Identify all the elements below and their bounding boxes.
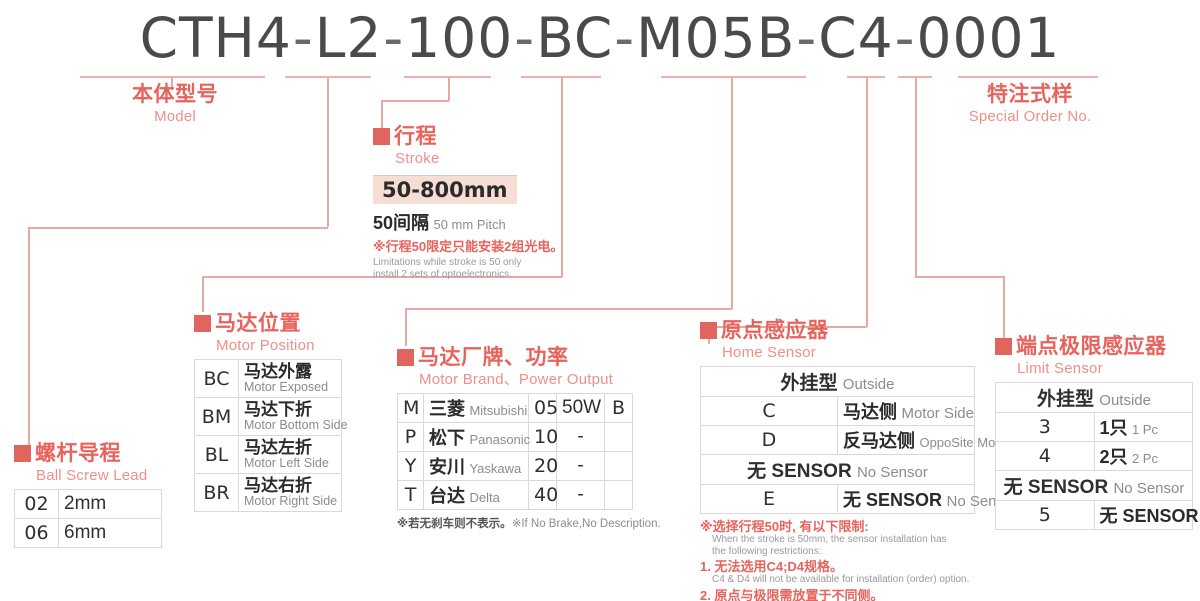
motorbrand-power-0: 50W: [557, 394, 605, 423]
table-header-row: 无 SENSOR No Sensor: [701, 455, 975, 485]
lead-value-1: 6mm: [59, 519, 162, 548]
homesensor-band-nosensor-cn: 无 SENSOR: [747, 461, 852, 482]
motorbrand-title-cn: 马达厂牌、功率: [397, 347, 661, 369]
table-motor-position: BC 马达外露 Motor Exposed BM 马达下折 Motor Bott…: [194, 359, 342, 512]
motorbrand-power-3: -: [557, 481, 605, 510]
homesensor-band-outside-en: Outside: [843, 376, 895, 393]
special-order-title-en: Special Order No.: [950, 107, 1110, 126]
motorbrand-brake-0: B: [605, 394, 633, 423]
motorpos-cn-1: 马达下折: [244, 401, 336, 418]
special-order-title-cn: 特注式样: [950, 84, 1110, 106]
homesensor-note-item1-en: C4 & D4 will not be available for instal…: [700, 574, 975, 586]
stroke-title-cn: 行程: [373, 126, 563, 148]
code-segment-special-order: 0001: [916, 6, 1060, 70]
motorbrand-brake-1: [605, 423, 633, 452]
motorpos-title-en: Motor Position: [194, 336, 342, 355]
limitsensor-en-0: 1 Pc: [1132, 422, 1158, 437]
model-title-cn: 本体型号: [80, 84, 270, 106]
limitsensor-cn-1: 2只: [1100, 447, 1128, 467]
code-segment-stroke: 100: [405, 6, 513, 70]
connector-stroke-v2: [381, 100, 383, 128]
code-segment-home-sensor: C4: [818, 6, 893, 70]
homesensor-note-head-en-1: When the stroke is 50mm, the sensor inst…: [700, 534, 975, 546]
lead-value-0: 2mm: [59, 490, 162, 519]
connector-motorbrand-v2: [405, 308, 407, 346]
motorpos-code-1: BM: [195, 398, 239, 436]
homesensor-code-1: D: [701, 426, 838, 455]
table-row[interactable]: 02 2mm: [15, 490, 162, 519]
limitsensor-band-outside-en: Outside: [1099, 392, 1151, 409]
stroke-note-cn: ※行程50限定只能安装2组光电。: [373, 239, 563, 254]
motorbrand-power-1: -: [557, 423, 605, 452]
limitsensor-value-1: 2只 2 Pc: [1094, 442, 1193, 471]
code-dash: -: [382, 6, 405, 70]
motorpos-value-0: 马达外露 Motor Exposed: [239, 360, 342, 398]
motorpos-code-0: BC: [195, 360, 239, 398]
bullet-square-icon: [995, 338, 1012, 355]
motorbrand-powercode-1: 10: [529, 423, 557, 452]
table-header-row: 外挂型 Outside: [996, 383, 1193, 413]
underline-model: [80, 76, 265, 78]
lead-code-0: 02: [15, 490, 59, 519]
motorpos-cn-2: 马达左折: [244, 439, 336, 456]
connector-lead-h: [28, 227, 328, 229]
motorpos-value-2: 马达左折 Motor Left Side: [239, 436, 342, 474]
connector-homesensor-v1: [866, 77, 868, 327]
motorpos-code-3: BR: [195, 474, 239, 512]
motorbrand-powercode-2: 20: [529, 452, 557, 481]
stroke-pitch: 50间隔 50 mm Pitch: [373, 209, 563, 235]
motorbrand-cn-2: 安川: [429, 457, 465, 477]
homesensor-title-cn-text: 原点感应器: [721, 319, 829, 342]
homesensor-code-2: E: [701, 485, 838, 514]
motorbrand-note: ※若无刹车则不表示。※If No Brake,No Description.: [397, 514, 661, 532]
limitsensor-en-1: 2 Pc: [1132, 451, 1158, 466]
motorbrand-title-cn-text: 马达厂牌、功率: [418, 346, 569, 369]
motorpos-en-1: Motor Bottom Side: [244, 418, 336, 432]
limitsensor-code-0: 3: [996, 413, 1095, 442]
table-header-row: 外挂型 Outside: [701, 367, 975, 397]
underline-special-order: [958, 76, 1098, 78]
homesensor-band-outside-cn: 外挂型: [781, 373, 838, 394]
product-code: CTH4-L2-100-BC-M05B-C4-0001: [0, 6, 1200, 70]
motorbrand-en-3: Delta: [469, 490, 499, 505]
motorbrand-code-0: M: [398, 394, 424, 423]
code-dash: -: [894, 6, 917, 70]
homesensor-en-0: Motor Side: [901, 405, 974, 422]
homesensor-band-outside: 外挂型 Outside: [701, 367, 975, 397]
motorpos-value-1: 马达下折 Motor Bottom Side: [239, 398, 342, 436]
motorbrand-code-2: Y: [398, 452, 424, 481]
bullet-square-icon: [397, 349, 414, 366]
motorbrand-powercode-0: 05: [529, 394, 557, 423]
motorpos-en-2: Motor Left Side: [244, 456, 336, 470]
motorbrand-brand-1: 松下 Panasonic: [424, 423, 529, 452]
motorbrand-powercode-3: 40: [529, 481, 557, 510]
motorbrand-brand-2: 安川 Yaskawa: [424, 452, 529, 481]
motorbrand-brand-3: 台达 Delta: [424, 481, 529, 510]
homesensor-code-0: C: [701, 397, 838, 426]
table-row[interactable]: BL 马达左折 Motor Left Side: [195, 436, 342, 474]
motorbrand-cn-1: 松下: [429, 428, 465, 448]
table-limit-sensor: 外挂型 Outside 3 1只 1 Pc 4 2只 2 Pc: [995, 382, 1193, 530]
table-row[interactable]: 4 2只 2 Pc: [996, 442, 1193, 471]
homesensor-value-2: 无 SENSOR No Sensor: [838, 485, 975, 514]
underline-motor-brand: [661, 76, 806, 78]
limitsensor-code-2: 5: [996, 501, 1095, 530]
motorpos-en-3: Motor Right Side: [244, 494, 336, 508]
homesensor-title-en: Home Sensor: [700, 343, 975, 362]
limitsensor-value-2: 无 SENSOR No Sensor: [1094, 501, 1193, 530]
limitsensor-value-0: 1只 1 Pc: [1094, 413, 1193, 442]
motorpos-en-0: Motor Exposed: [244, 380, 336, 394]
model-title-en: Model: [80, 107, 270, 126]
code-dash: -: [513, 6, 536, 70]
homesensor-note-head-en-2: the following restrictions:: [700, 546, 975, 558]
motorbrand-cn-3: 台达: [429, 486, 465, 506]
table-ball-screw-lead: 02 2mm 06 6mm: [14, 489, 162, 548]
lead-code-1: 06: [15, 519, 59, 548]
motorbrand-en-1: Panasonic: [469, 432, 530, 447]
code-segment-motor-position: BC: [536, 6, 613, 70]
table-row[interactable]: 06 6mm: [15, 519, 162, 548]
homesensor-band-nosensor: 无 SENSOR No Sensor: [701, 455, 975, 485]
stroke-title-cn-text: 行程: [394, 125, 437, 148]
bullet-square-icon: [194, 315, 211, 332]
motorpos-title-cn-text: 马达位置: [215, 312, 301, 335]
code-segment-motor-brand: M05B: [636, 6, 795, 70]
motorbrand-note-en: ※If No Brake,No Description.: [512, 518, 661, 530]
stroke-pitch-en: 50 mm Pitch: [433, 217, 505, 232]
motorpos-cn-3: 马达右折: [244, 477, 336, 494]
motorbrand-note-cn: ※若无刹车则不表示。: [397, 518, 512, 530]
stroke-note-en-1: Limitations while stroke is 50 only: [373, 257, 563, 269]
lead-title-cn-text: 螺杆导程: [35, 442, 121, 465]
stroke-note-en-2: install 2 sets of optoelectronics.: [373, 269, 563, 281]
limitsensor-band-nosensor-cn: 无 SENSOR: [1004, 477, 1109, 498]
table-row[interactable]: M 三菱 Mitsubishi 05 50W B: [398, 394, 633, 423]
label-special-order: 特注式样 Special Order No.: [950, 84, 1110, 126]
table-row[interactable]: E 无 SENSOR No Sensor: [701, 485, 975, 514]
homesensor-cn-2: 无 SENSOR: [843, 490, 942, 510]
homesensor-notes: ※选择行程50时, 有以下限制: When the stroke is 50mm…: [700, 519, 975, 601]
bullet-square-icon: [14, 445, 31, 462]
product-code-diagram: CTH4-L2-100-BC-M05B-C4-0001 本体型号 Model 特…: [0, 0, 1200, 601]
limitsensor-band-outside-cn: 外挂型: [1037, 389, 1094, 410]
section-motor-position: 马达位置 Motor Position BC 马达外露 Motor Expose…: [194, 313, 342, 512]
homesensor-value-0: 马达侧 Motor Side: [838, 397, 975, 426]
homesensor-value-1: 反马达侧 OppoSite Motor Side: [838, 426, 975, 455]
connector-motorbrand-v1: [731, 77, 733, 309]
limitsensor-cn-0: 1只: [1100, 418, 1128, 438]
connector-limitsensor-v1: [915, 77, 917, 277]
motorbrand-brake-2: [605, 452, 633, 481]
motorbrand-en-2: Yaskawa: [469, 461, 521, 476]
motorpos-cn-0: 马达外露: [244, 363, 336, 380]
table-row[interactable]: P 松下 Panasonic 10 -: [398, 423, 633, 452]
section-home-sensor: 原点感应器 Home Sensor 外挂型 Outside C 马达侧 Moto…: [700, 320, 975, 601]
motorbrand-title-en: Motor Brand、Power Output: [397, 370, 661, 389]
limitsensor-title-cn: 端点极限感应器: [995, 336, 1193, 358]
section-ball-screw-lead: 螺杆导程 Ball Screw Lead 02 2mm 06 6mm: [14, 443, 162, 548]
motorpos-value-3: 马达右折 Motor Right Side: [239, 474, 342, 512]
lead-title-en: Ball Screw Lead: [14, 466, 162, 485]
table-row[interactable]: T 台达 Delta 40 -: [398, 481, 633, 510]
table-row[interactable]: 5 无 SENSOR No Sensor: [996, 501, 1193, 530]
homesensor-title-cn: 原点感应器: [700, 320, 975, 342]
table-row[interactable]: 3 1只 1 Pc: [996, 413, 1193, 442]
table-header-row: 无 SENSOR No Sensor: [996, 471, 1193, 501]
code-dash: -: [795, 6, 818, 70]
motorbrand-brand-0: 三菱 Mitsubishi: [424, 394, 529, 423]
connector-stroke-v1: [448, 77, 450, 101]
connector-lead-v1: [327, 77, 329, 227]
stroke-range-box: 50-800mm: [373, 175, 517, 204]
limitsensor-title-en: Limit Sensor: [995, 359, 1193, 378]
code-segment-lead: L2: [315, 6, 383, 70]
connector-stroke-h: [381, 100, 449, 102]
homesensor-cn-0: 马达侧: [843, 402, 897, 422]
code-segment-model: CTH4: [140, 6, 292, 70]
motorbrand-en-0: Mitsubishi: [469, 403, 527, 418]
section-motor-brand: 马达厂牌、功率 Motor Brand、Power Output M 三菱 Mi…: [397, 347, 661, 532]
homesensor-cn-1: 反马达侧: [843, 431, 915, 451]
homesensor-note-item2-cn: 2. 原点与极限需放置于不同侧。: [700, 588, 975, 601]
connector-motorpos-v2: [202, 276, 204, 312]
table-home-sensor: 外挂型 Outside C 马达侧 Motor Side D 反马达侧 Oppo…: [700, 366, 975, 514]
connector-motorbrand-h: [405, 308, 732, 310]
motorpos-code-2: BL: [195, 436, 239, 474]
table-row[interactable]: C 马达侧 Motor Side: [701, 397, 975, 426]
motorpos-title-cn: 马达位置: [194, 313, 342, 335]
connector-limitsensor-v2: [1003, 276, 1005, 338]
homesensor-band-nosensor-en: No Sensor: [857, 464, 928, 481]
limitsensor-code-1: 4: [996, 442, 1095, 471]
motorbrand-code-1: P: [398, 423, 424, 452]
table-row[interactable]: D 反马达侧 OppoSite Motor Side: [701, 426, 975, 455]
code-dash: -: [613, 6, 636, 70]
stroke-range-value: 50-800mm: [382, 178, 508, 202]
homesensor-note-item1-cn: 1. 无法选用C4;D4规格。: [700, 559, 975, 574]
code-dash: -: [292, 6, 315, 70]
motorbrand-cn-0: 三菱: [429, 399, 465, 419]
motorbrand-brake-3: [605, 481, 633, 510]
limitsensor-band-nosensor-en: No Sensor: [1113, 480, 1184, 497]
motorbrand-code-3: T: [398, 481, 424, 510]
limitsensor-cn-2: 无 SENSOR: [1100, 506, 1199, 526]
limitsensor-band-nosensor: 无 SENSOR No Sensor: [996, 471, 1193, 501]
table-motor-brand: M 三菱 Mitsubishi 05 50W B P 松下 Panasonic …: [397, 393, 633, 510]
table-row[interactable]: Y 安川 Yaskawa 20 -: [398, 452, 633, 481]
stroke-pitch-cn: 50间隔: [373, 213, 429, 233]
motorbrand-power-2: -: [557, 452, 605, 481]
limitsensor-title-cn-text: 端点极限感应器: [1016, 335, 1167, 358]
table-row[interactable]: BM 马达下折 Motor Bottom Side: [195, 398, 342, 436]
section-limit-sensor: 端点极限感应器 Limit Sensor 外挂型 Outside 3 1只 1 …: [995, 336, 1193, 530]
section-stroke: 行程 Stroke 50-800mm 50间隔 50 mm Pitch ※行程5…: [373, 126, 563, 280]
table-row[interactable]: BR 马达右折 Motor Right Side: [195, 474, 342, 512]
table-row[interactable]: BC 马达外露 Motor Exposed: [195, 360, 342, 398]
bullet-square-icon: [373, 128, 390, 145]
limitsensor-band-outside: 外挂型 Outside: [996, 383, 1193, 413]
lead-title-cn: 螺杆导程: [14, 443, 162, 465]
connector-limitsensor-h: [915, 276, 1004, 278]
connector-lead-v2: [28, 227, 30, 455]
label-model: 本体型号 Model: [80, 84, 270, 126]
bullet-square-icon: [700, 322, 717, 339]
homesensor-note-head-cn: ※选择行程50时, 有以下限制:: [700, 519, 975, 534]
stroke-title-en: Stroke: [373, 149, 563, 168]
